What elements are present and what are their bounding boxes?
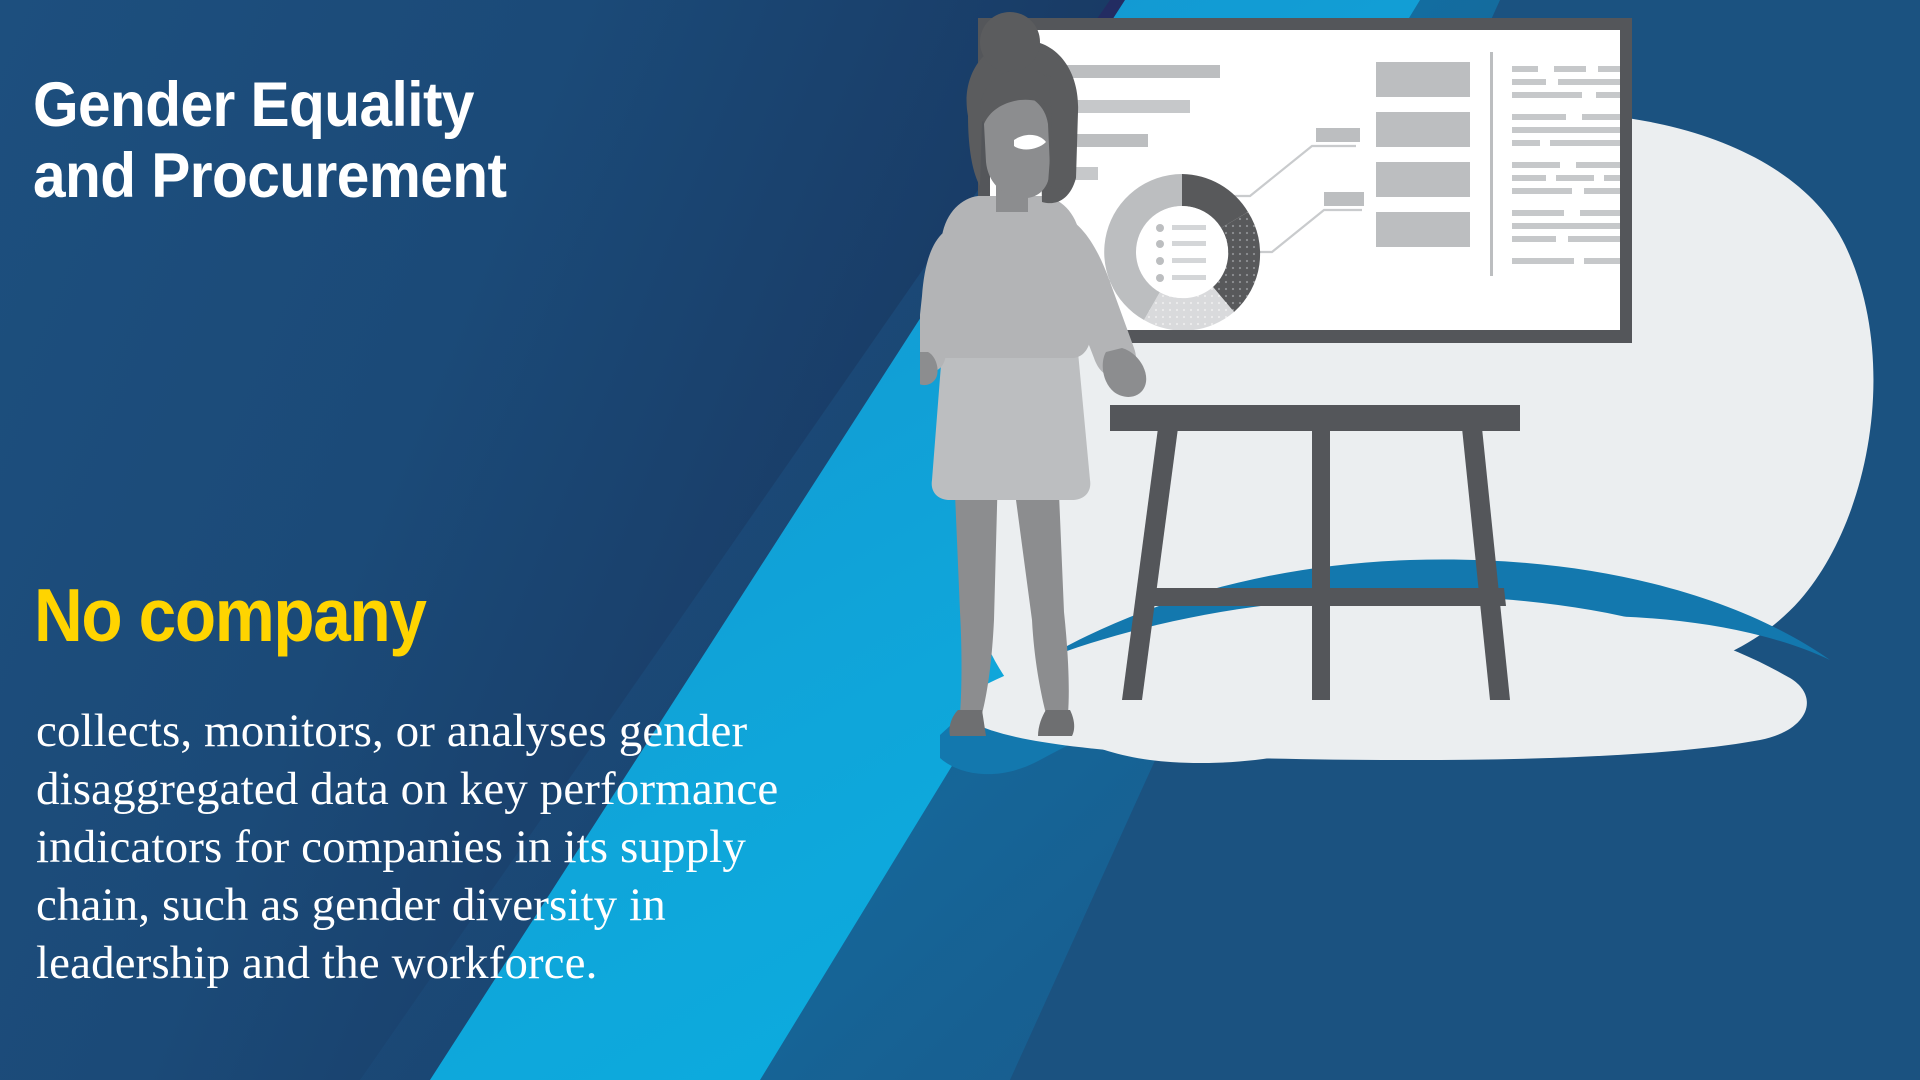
easel-crossbar (1142, 588, 1506, 606)
text-line (1512, 258, 1574, 264)
stat-block-1 (1376, 62, 1470, 97)
slide-canvas: Gender Equality and Procurement No compa… (0, 0, 1920, 1080)
legend-dot-1 (1156, 224, 1164, 232)
page-title: Gender Equality and Procurement (33, 70, 740, 211)
stat-block-4 (1376, 212, 1470, 247)
text-line (1556, 175, 1594, 181)
figure-shoe-right (1038, 710, 1074, 736)
board-divider (1490, 52, 1493, 276)
easel-tray (1110, 405, 1520, 431)
easel-leg-center (1312, 428, 1330, 700)
legend-line-1 (1172, 225, 1206, 230)
text-line (1512, 188, 1572, 194)
easel-leg-right (1462, 428, 1510, 700)
legend-dot-4 (1156, 274, 1164, 282)
stat-block-3 (1376, 162, 1470, 197)
legend-line-4 (1172, 275, 1206, 280)
figure-hair-bun (980, 12, 1040, 72)
figure-hand-right (1103, 348, 1146, 397)
text-line (1512, 140, 1540, 146)
figure-leg-left (954, 470, 998, 714)
donut-hole (1136, 206, 1228, 298)
donut-chart (1104, 174, 1260, 331)
figure-leg-right (1012, 470, 1069, 714)
illustration-woman-with-chart-board (920, 0, 1920, 1080)
figure-shoe-left (949, 710, 986, 736)
legend-dot-2 (1156, 240, 1164, 248)
stat-block-2 (1376, 112, 1470, 147)
text-line (1512, 114, 1566, 120)
illustration-svg (920, 0, 1920, 1080)
easel-leg-left (1122, 428, 1178, 700)
callout-tag-1 (1316, 128, 1360, 142)
headline-kicker: No company (34, 578, 426, 653)
legend-dot-3 (1156, 257, 1164, 265)
text-line (1554, 66, 1586, 72)
text-line (1512, 210, 1564, 216)
text-line (1512, 79, 1546, 85)
text-line (1512, 175, 1546, 181)
figure-skirt (932, 352, 1091, 500)
text-line (1512, 66, 1538, 72)
text-line (1512, 236, 1556, 242)
legend-line-2 (1172, 241, 1206, 246)
legend-line-3 (1172, 258, 1206, 263)
easel-tripod (1110, 405, 1520, 700)
text-line (1512, 223, 1638, 229)
text-line (1512, 92, 1582, 98)
callout-tag-2 (1324, 192, 1364, 206)
text-line (1512, 162, 1560, 168)
text-line (1512, 127, 1638, 133)
figure-arm-left (920, 232, 950, 372)
